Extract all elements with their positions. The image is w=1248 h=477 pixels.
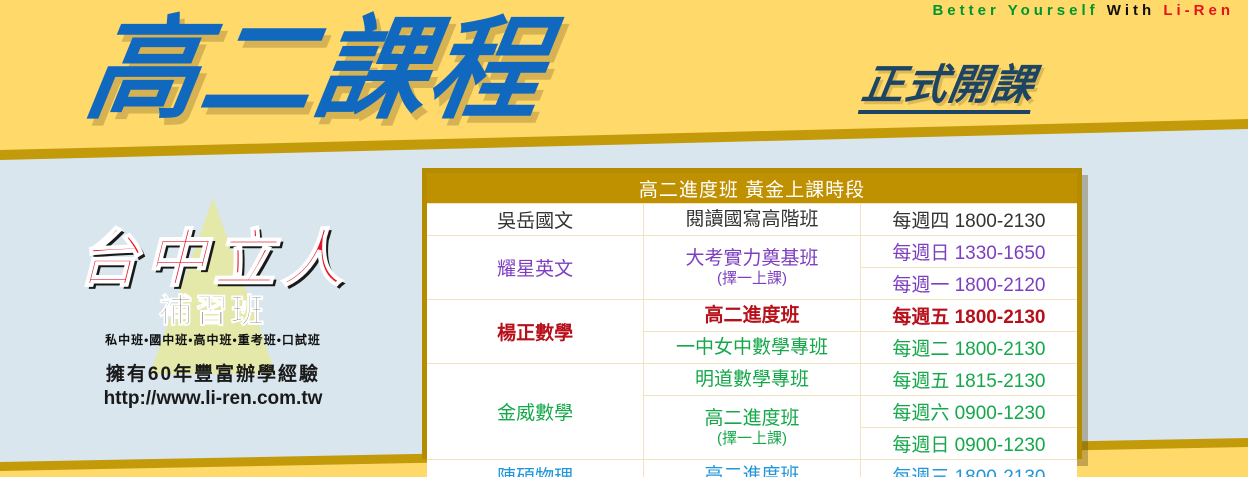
schedule-table-container: 高二進度班 黃金上課時段 吳岳國文閱讀國寫高階班每週四 1800-2130耀星英…: [422, 168, 1082, 459]
schedule-table-body: 吳岳國文閱讀國寫高階班每週四 1800-2130耀星英文大考實力奠基班(擇一上課…: [427, 204, 1077, 477]
teacher-subject-cell: 金威數學: [427, 364, 644, 460]
logo-name: 台中立人: [18, 196, 408, 296]
tagline-word-with: With: [1107, 2, 1155, 19]
schedule-table-header-row: 高二進度班 黃金上課時段: [427, 173, 1077, 204]
course-name: 閱讀國寫高階班: [644, 208, 860, 231]
teacher-subject-cell: 吳岳國文: [427, 204, 644, 236]
teacher-subject-cell: 陳碩物理: [427, 460, 644, 477]
tagline-word-liren: Li-Ren: [1163, 2, 1234, 19]
class-time-cell: 每週日 0900-1230: [860, 428, 1077, 460]
table-row: 楊正數學高二進度班每週五 1800-2130: [427, 300, 1077, 332]
tagline-word-yourself: Yourself: [1008, 2, 1099, 19]
table-row: 吳岳國文閱讀國寫高階班每週四 1800-2130: [427, 204, 1077, 236]
class-time-cell: 每週五 1815-2130: [860, 364, 1077, 396]
class-time-cell: 每週四 1800-2130: [860, 204, 1077, 236]
logo-class-types: 私中班•國中班•高中班•重考班•口試班: [18, 331, 408, 348]
course-name-cell: 一中女中數學專班: [644, 332, 861, 364]
english-tagline: Better Yourself With Li-Ren: [932, 2, 1234, 19]
page-title: 高二課程: [78, 10, 553, 130]
teacher-subject-cell: 楊正數學: [427, 300, 644, 364]
course-name: 大考實力奠基班: [644, 247, 860, 270]
class-time-cell: 每週三 1800-2130: [860, 460, 1077, 477]
table-row: 陳碩物理高二進度班每週三 1800-2130: [427, 460, 1077, 477]
class-time-cell: 每週二 1800-2130: [860, 332, 1077, 364]
class-time-cell: 每週五 1800-2130: [860, 300, 1077, 332]
school-logo: 台中立人 補習班 私中班•國中班•高中班•重考班•口試班 擁有60年豐富辦學經驗…: [18, 196, 408, 426]
course-name-cell: 大考實力奠基班(擇一上課): [644, 236, 861, 300]
tagline-word-better: Better: [932, 2, 999, 19]
schedule-table: 高二進度班 黃金上課時段 吳岳國文閱讀國寫高階班每週四 1800-2130耀星英…: [427, 173, 1077, 477]
teacher-subject-cell: 耀星英文: [427, 236, 644, 300]
logo-subname: 補習班: [18, 292, 408, 330]
class-time-cell: 每週六 0900-1230: [860, 396, 1077, 428]
logo-experience-text: 擁有60年豐富辦學經驗: [18, 363, 408, 387]
course-note: (擇一上課): [644, 429, 860, 448]
course-name: 高二進度班: [644, 304, 860, 327]
table-row: 耀星英文大考實力奠基班(擇一上課)每週日 1330-1650: [427, 236, 1077, 268]
course-name-cell: 高二進度班: [644, 300, 861, 332]
course-name: 高二進度班: [644, 407, 860, 430]
class-time-cell: 每週一 1800-2120: [860, 268, 1077, 300]
page-subtitle: 正式開課: [858, 62, 1038, 114]
schedule-table-header: 高二進度班 黃金上課時段: [427, 173, 1077, 204]
course-name-cell: 高二進度班(擇一上課): [644, 396, 861, 460]
course-name-cell: 閱讀國寫高階班: [644, 204, 861, 236]
course-name-cell: 明道數學專班: [644, 364, 861, 396]
table-row: 金威數學明道數學專班每週五 1815-2130: [427, 364, 1077, 396]
course-name: 高二進度班: [644, 464, 860, 477]
logo-website-url: http://www.li-ren.com.tw: [18, 387, 408, 411]
course-name-cell: 高二進度班: [644, 460, 861, 477]
class-time-cell: 每週日 1330-1650: [860, 236, 1077, 268]
course-note: (擇一上課): [644, 269, 860, 288]
course-promo-banner: Better Yourself With Li-Ren 高二課程 正式開課 台中…: [0, 0, 1248, 477]
course-name: 明道數學專班: [644, 368, 860, 391]
course-name: 一中女中數學專班: [644, 336, 860, 359]
